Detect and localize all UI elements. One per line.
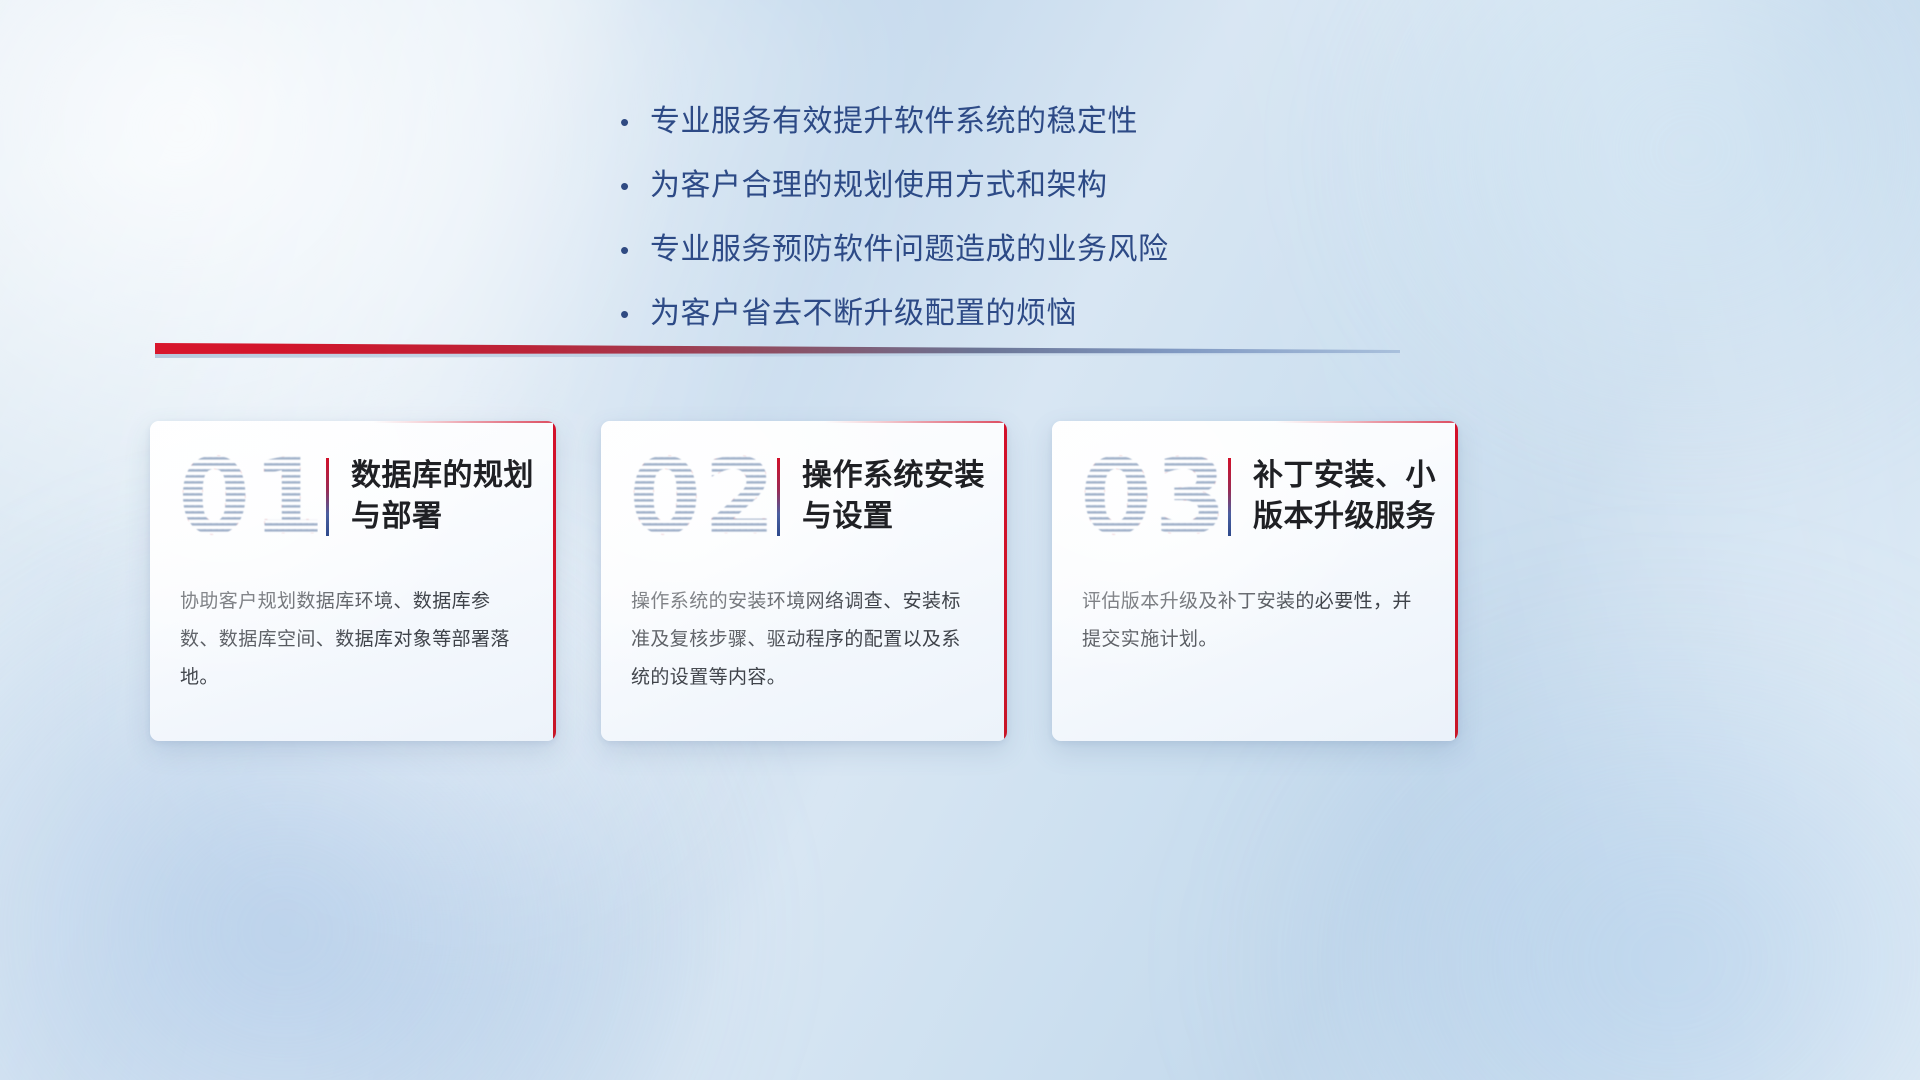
striped-number-icon: 03 03 (1078, 445, 1220, 549)
card-title: 补丁安装、小版本升级服务 (1253, 456, 1440, 538)
striped-number-icon: 02 02 (627, 445, 769, 549)
svg-text:01: 01 (178, 445, 318, 549)
card-description: 操作系统的安装环境网络调查、安装标准及复核步骤、驱动程序的配置以及系统的设置等内… (601, 573, 1007, 697)
card-header: 01 01 数据库的规划与部署 (150, 421, 556, 573)
slide-canvas: • 专业服务有效提升软件系统的稳定性 • 为客户合理的规划使用方式和架构 • 专… (0, 0, 1920, 1080)
bullet-item-3: • 专业服务预防软件问题造成的业务风险 (610, 224, 1310, 288)
feature-card-row: 01 01 数据库的规划与部署 协助客户规划数据库环境、数据库参数、数据库空间、… (150, 421, 1460, 741)
bullet-item-2: • 为客户合理的规划使用方式和架构 (610, 160, 1310, 224)
card-accent-divider (1228, 458, 1231, 536)
card-description: 评估版本升级及补丁安装的必要性，并提交实施计划。 (1052, 573, 1458, 659)
feature-card-02[interactable]: 02 02 操作系统安装与设置 操作系统的安装环境网络调查、安装标准及复核步骤、… (601, 421, 1007, 741)
bullet-item-label: 为客户省去不断升级配置的烦恼 (650, 288, 1077, 332)
bullet-item-4: • 为客户省去不断升级配置的烦恼 (610, 288, 1310, 352)
bullet-point-icon: • (610, 109, 650, 135)
bullet-point-icon: • (610, 173, 650, 199)
card-accent-divider (777, 458, 780, 536)
bullet-point-icon: • (610, 301, 650, 327)
bullet-item-label: 为客户合理的规划使用方式和架构 (650, 160, 1108, 204)
card-header: 03 03 补丁安装、小版本升级服务 (1052, 421, 1458, 573)
svg-text:03: 03 (1080, 445, 1220, 549)
bullet-item-label: 专业服务有效提升软件系统的稳定性 (650, 96, 1138, 140)
feature-card-03[interactable]: 03 03 补丁安装、小版本升级服务 评估版本升级及补丁安装的必要性，并提交实施… (1052, 421, 1458, 741)
bullet-list: • 专业服务有效提升软件系统的稳定性 • 为客户合理的规划使用方式和架构 • 专… (0, 96, 1920, 352)
card-title: 操作系统安装与设置 (802, 456, 989, 538)
card-description: 协助客户规划数据库环境、数据库参数、数据库空间、数据库对象等部署落地。 (150, 573, 556, 697)
bullet-point-icon: • (610, 237, 650, 263)
feature-card-01[interactable]: 01 01 数据库的规划与部署 协助客户规划数据库环境、数据库参数、数据库空间、… (150, 421, 556, 741)
bullet-item-1: • 专业服务有效提升软件系统的稳定性 (610, 96, 1310, 160)
card-accent-divider (326, 458, 329, 536)
striped-number-icon: 01 01 (176, 445, 318, 549)
card-title: 数据库的规划与部署 (351, 456, 538, 538)
svg-text:02: 02 (629, 445, 769, 549)
card-header: 02 02 操作系统安装与设置 (601, 421, 1007, 573)
bullet-item-label: 专业服务预防软件问题造成的业务风险 (650, 224, 1169, 268)
